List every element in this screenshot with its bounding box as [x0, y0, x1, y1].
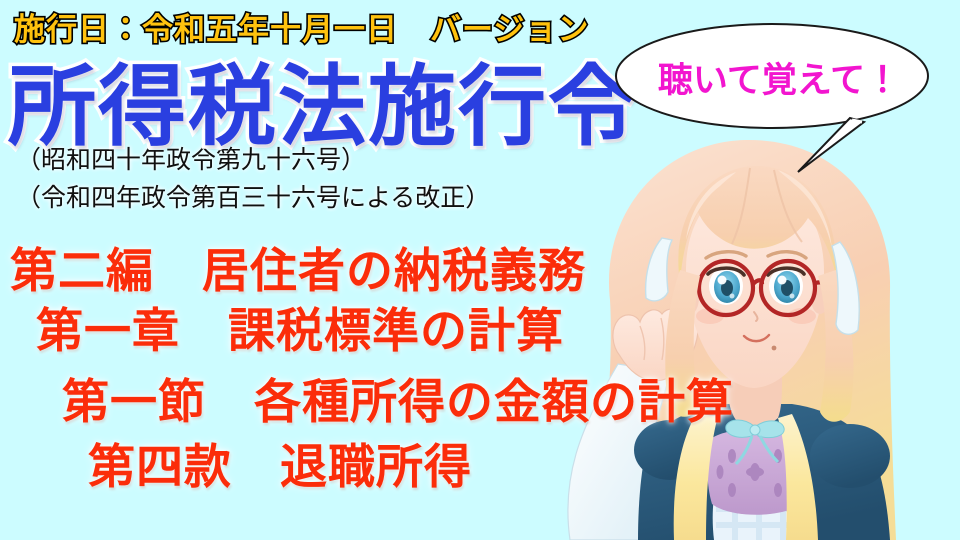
- heart-icon: [910, 20, 960, 180]
- shoulder-puff-right: [810, 424, 890, 488]
- character-illustration: [540, 120, 960, 540]
- slide-canvas: 施行日：令和五年十月一日 バージョン 所得税法施行令 （昭和四十年政令第九十六号…: [0, 0, 960, 540]
- outline-line-chapter: 第一章 課税標準の計算: [36, 292, 564, 361]
- outline-line-section: 第一節 各種所得の金額の計算: [62, 363, 734, 432]
- outline-line-subsection: 第四款 退職所得: [88, 428, 472, 497]
- speech-balloon: 聴いて覚えて！: [612, 14, 944, 174]
- beauty-mark: [772, 346, 777, 351]
- outline-line-part: 第二編 居住者の納税義務: [10, 232, 586, 301]
- page-title: 所得税法施行令: [8, 36, 638, 163]
- effective-date-header: 施行日：令和五年十月一日 バージョン: [14, 4, 589, 49]
- balloon-text: 聴いて覚えて！: [634, 52, 924, 103]
- subtitle-amendment-decree: （令和四年政令第百三十六号による改正）: [16, 178, 490, 214]
